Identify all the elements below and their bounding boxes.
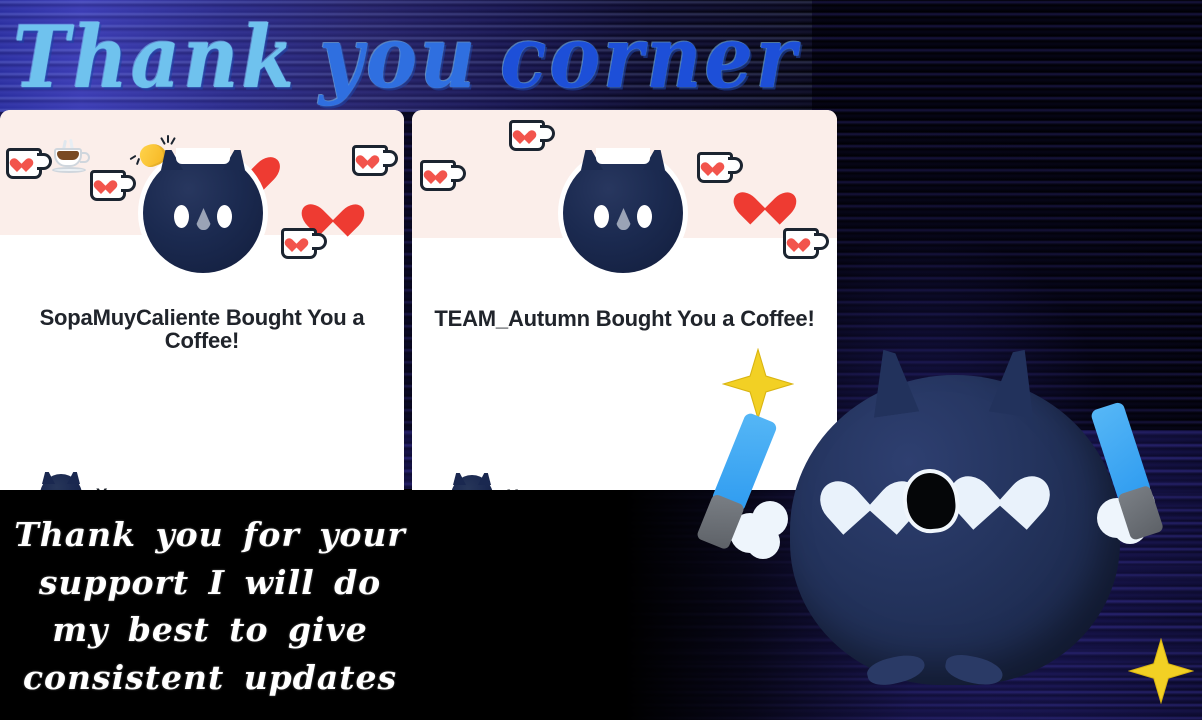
kofi-mug-icon: [6, 148, 52, 179]
avatar: [451, 475, 493, 490]
caption-text: Thank you for your support I will do my …: [0, 505, 420, 715]
reply-author-label: You: [96, 485, 127, 490]
kofi-mug-icon: [509, 120, 555, 151]
reply-author-label: You: [507, 486, 538, 490]
kofi-mug-icon: [697, 152, 743, 183]
kofi-mug-icon: [281, 228, 327, 259]
heart-emoji: [312, 190, 354, 228]
card-title: TEAM_Autumn Bought You a Coffee!: [428, 307, 821, 330]
kofi-cards-container: SopaMuyCaliente Bought You a Coffee! You…: [0, 110, 840, 490]
kofi-mug-icon: [90, 170, 136, 201]
card-title: SopaMuyCaliente Bought You a Coffee!: [16, 306, 388, 352]
heart-eye-left-icon: [833, 460, 907, 522]
blue-horned-mascot: [745, 335, 1165, 720]
kofi-mug-icon: [420, 160, 466, 191]
page-title-word-1: Thank: [13, 7, 297, 107]
kofi-card-sopamuycaliente[interactable]: SopaMuyCaliente Bought You a Coffee! You…: [0, 110, 404, 490]
kofi-mug-icon: [783, 228, 829, 259]
page-title-word-2: you: [319, 7, 478, 107]
reply-author-row: You: [40, 474, 127, 490]
supporter-avatar: [138, 148, 268, 278]
supporter-avatar: [558, 148, 688, 278]
heart-emoji: [744, 178, 786, 216]
coffee-cup-emoji: [52, 142, 92, 176]
reply-author-row: You: [451, 475, 538, 490]
avatar: [40, 474, 82, 490]
page-title: Thank you corner: [0, 0, 812, 112]
heart-eye-right-icon: [963, 455, 1037, 517]
header-banner: Thank you corner: [0, 0, 1202, 112]
screenshot-stage: Thank you corner: [0, 0, 1202, 720]
page-title-word-3: corner: [500, 7, 799, 107]
kofi-mug-icon: [352, 145, 398, 176]
